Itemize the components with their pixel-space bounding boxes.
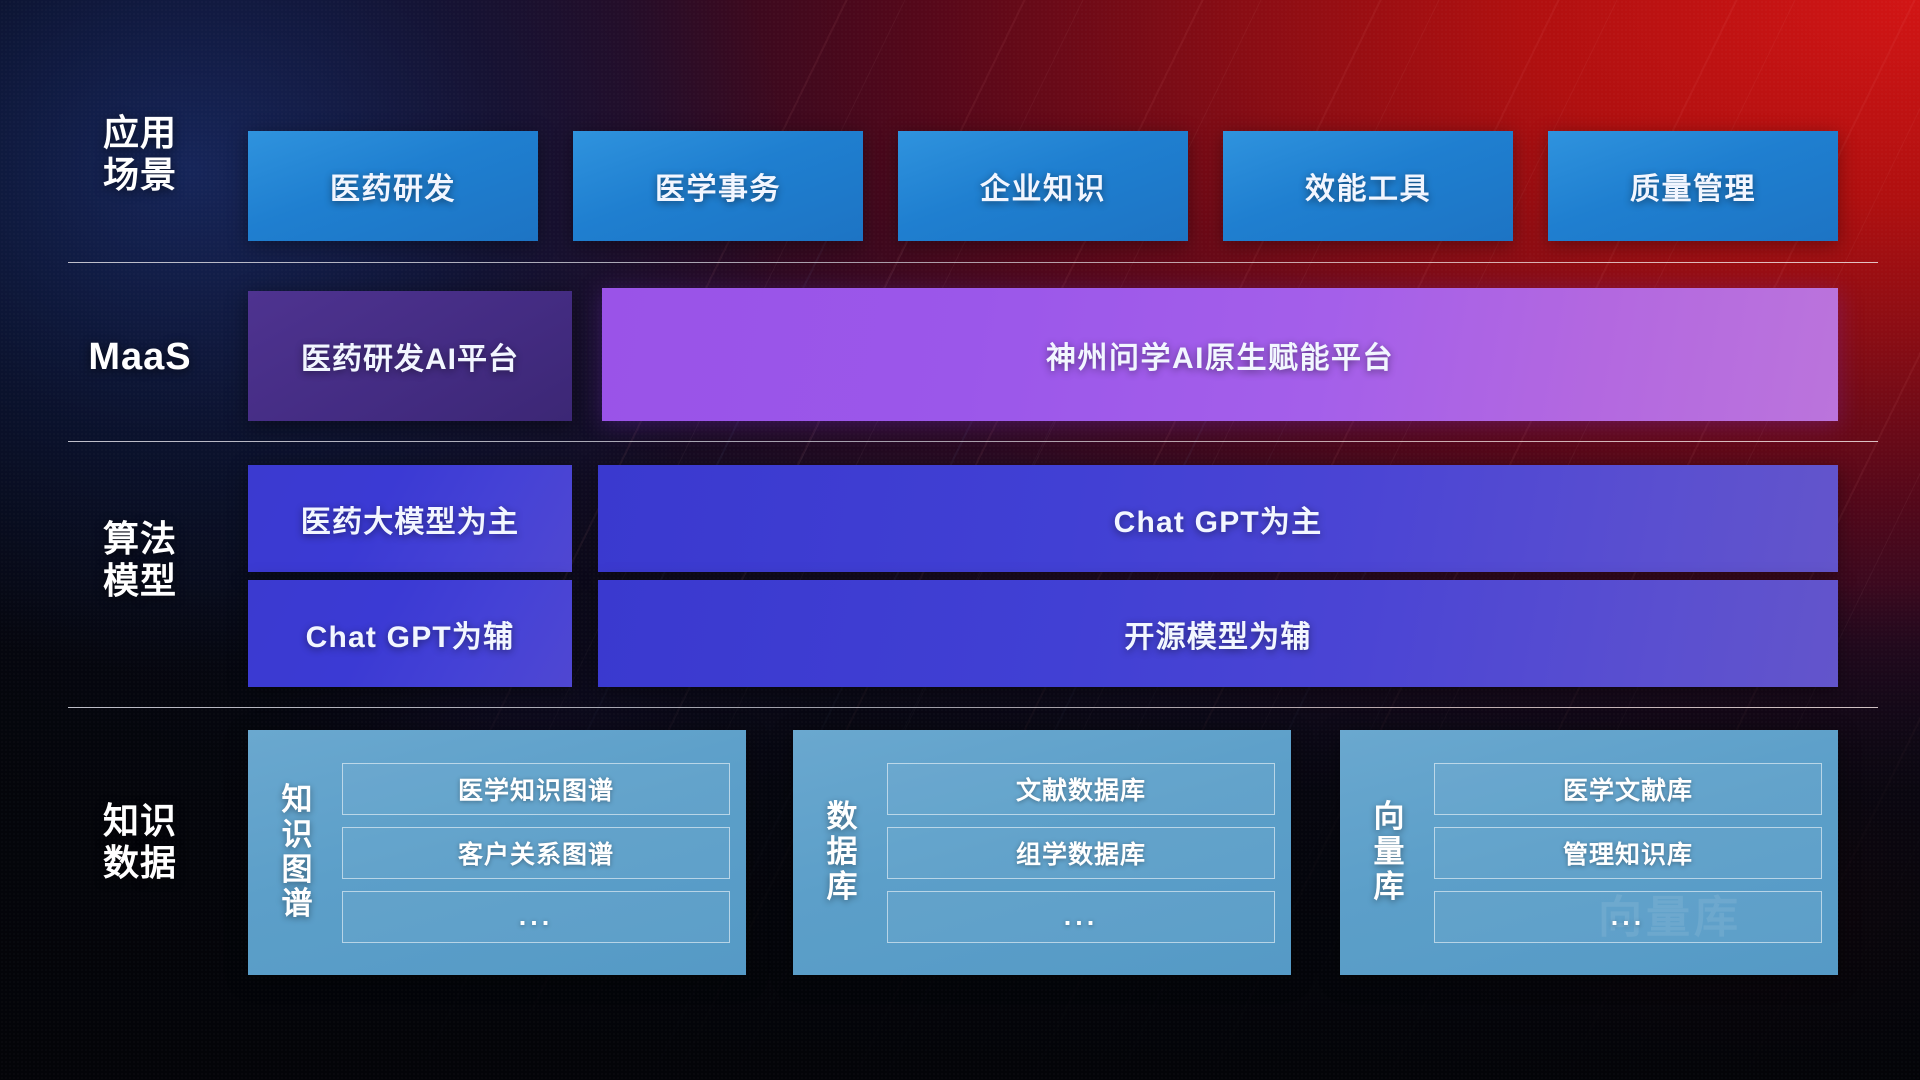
knowledge-panel-vector-title: 向量库 (1358, 800, 1420, 904)
algo-card-secondary-general[interactable]: 开源模型为辅 (598, 580, 1838, 687)
knowledge-item-database-1[interactable]: 组学数据库 (887, 827, 1275, 879)
knowledge-panel-database[interactable]: 数据库 文献数据库 组学数据库 ... (793, 730, 1291, 975)
knowledge-item-vector-0[interactable]: 医学文献库 (1434, 763, 1822, 815)
knowledge-panel-database-title: 数据库 (811, 800, 873, 904)
app-card-0[interactable]: 医药研发 (248, 131, 538, 241)
knowledge-item-graph-2[interactable]: ... (342, 891, 730, 943)
knowledge-panel-database-items: 文献数据库 组学数据库 ... (887, 763, 1275, 943)
knowledge-panel-vector-title-text: 向量库 (1370, 800, 1408, 904)
app-card-2[interactable]: 企业知识 (898, 131, 1188, 241)
knowledge-item-vector-1[interactable]: 管理知识库 (1434, 827, 1822, 879)
row-label-maas: MaaS (60, 335, 220, 379)
algo-card-primary-domain[interactable]: 医药大模型为主 (248, 465, 572, 572)
knowledge-panel-graph[interactable]: 知识图谱 医学知识图谱 客户关系图谱 ... (248, 730, 746, 975)
app-card-4[interactable]: 质量管理 (1548, 131, 1838, 241)
knowledge-panel-graph-title: 知识图谱 (266, 783, 328, 922)
maas-left-card[interactable]: 医药研发AI平台 (248, 291, 572, 421)
row-label-application-scenario: 应用 场景 (60, 112, 220, 196)
knowledge-panel-vector[interactable]: 向量库 医学文献库 管理知识库 ... 向量库 (1340, 730, 1838, 975)
divider-algorithm (68, 707, 1878, 708)
algo-card-secondary-domain[interactable]: Chat GPT为辅 (248, 580, 572, 687)
app-card-1[interactable]: 医学事务 (573, 131, 863, 241)
knowledge-panel-graph-title-text: 知识图谱 (278, 783, 316, 922)
knowledge-panel-database-title-text: 数据库 (823, 800, 861, 904)
knowledge-panel-graph-items: 医学知识图谱 客户关系图谱 ... (342, 763, 730, 943)
algo-card-primary-general[interactable]: Chat GPT为主 (598, 465, 1838, 572)
knowledge-item-database-2[interactable]: ... (887, 891, 1275, 943)
divider-maas (68, 441, 1878, 442)
app-card-3[interactable]: 效能工具 (1223, 131, 1513, 241)
knowledge-item-vector-2[interactable]: ... (1434, 891, 1822, 943)
divider-application (68, 262, 1878, 263)
knowledge-item-graph-0[interactable]: 医学知识图谱 (342, 763, 730, 815)
knowledge-item-database-0[interactable]: 文献数据库 (887, 763, 1275, 815)
maas-platform-banner[interactable]: 神州问学AI原生赋能平台 (602, 288, 1838, 421)
row-label-algorithm-model: 算法 模型 (60, 518, 220, 602)
knowledge-panel-vector-items: 医学文献库 管理知识库 ... (1434, 763, 1822, 943)
row-label-knowledge-data: 知识 数据 (60, 800, 220, 884)
knowledge-item-graph-1[interactable]: 客户关系图谱 (342, 827, 730, 879)
